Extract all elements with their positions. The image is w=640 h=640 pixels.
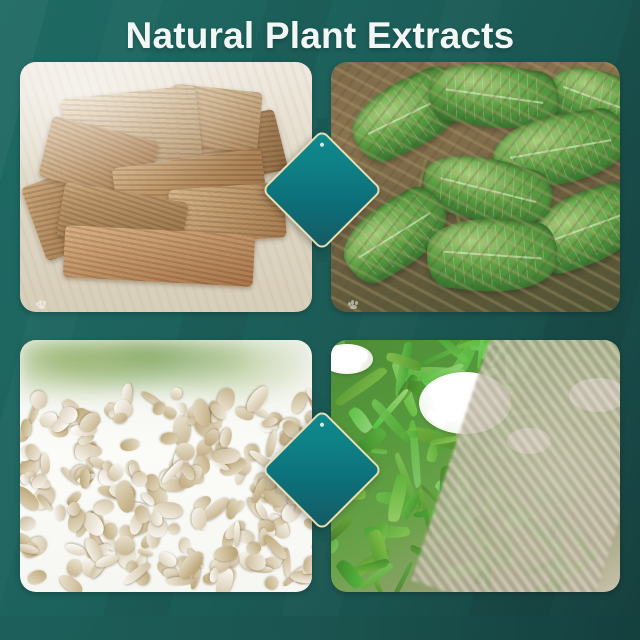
leaf-frond [459,417,495,434]
leaf-frond [514,558,543,578]
leaf-frond [533,577,573,592]
root-slice [55,506,65,521]
root-slice [119,439,139,452]
leaf-frond [456,464,469,498]
leaf-frond [484,543,492,592]
leaf-shape [423,211,560,298]
diamond-connector [316,118,328,132]
leaf-frond [564,387,579,393]
leaf-shape [340,62,477,169]
leaf-frond [501,505,533,533]
bark-piece [112,148,269,226]
leaf-frond [529,459,579,502]
leaf-frond [445,559,487,580]
poster-canvas: Natural Plant Extracts [0,0,640,640]
leaf-frond [331,514,356,542]
leaf-frond [517,419,536,433]
root-slice [112,412,127,424]
leaf-frond [545,480,575,543]
leaf-frond [541,531,568,561]
leaf-frond [463,506,476,521]
root-slice [20,518,35,531]
leaf-frond [438,465,453,532]
leaf-frond [480,490,503,517]
bark-piece [167,83,263,152]
root-slice [263,574,281,592]
root-slice [218,427,233,449]
leaf-frond [512,366,541,384]
umbel-flower [569,378,620,412]
leaf-frond [563,550,600,578]
leaf-frond [537,340,549,367]
leaf-frond [572,532,600,565]
umbel-flower [419,372,511,434]
bark-piece [38,116,160,203]
leaf-frond [499,531,511,559]
leaf-frond [493,381,515,399]
leaf-frond [491,550,516,572]
root-slice [168,386,183,402]
leaf-frond [531,340,551,369]
leaf-frond [430,508,474,543]
bark-piece [56,182,189,258]
root-slice [167,522,181,536]
leaf-frond [487,417,532,455]
leaf-shape [523,177,620,279]
leaf-frond [513,340,540,376]
root-slice [79,469,90,489]
leaf-frond [472,564,491,586]
leaf-frond [525,374,542,385]
diamond-dot-icon [319,422,325,428]
leaf-frond [543,369,576,391]
page-title: Natural Plant Extracts [0,14,640,58]
leaf-frond [530,428,561,469]
leaf-frond [532,470,554,503]
bark-piece [61,85,203,171]
leaf-frond [447,462,471,486]
leaf-frond [560,559,588,574]
leaf-frond [426,545,439,579]
root-slice [103,523,118,539]
plant-stem [406,159,428,235]
leaf-frond [476,547,493,572]
root-slice [40,453,50,474]
root-slice [233,521,240,547]
leaf-frond [347,404,373,435]
leaf-frond [433,478,458,503]
leaf-frond [503,496,557,551]
leaf-frond [505,354,514,383]
root-slice [65,542,88,557]
leaf-frond [568,388,590,421]
leaf-frond [486,483,495,504]
leaf-frond [523,560,551,577]
leaf-frond [447,492,470,507]
root-slice [21,418,31,436]
leaf-shape [417,141,560,238]
leaf-frond [540,340,588,375]
leaf-frond [540,559,562,575]
leaf-frond [551,514,598,564]
leaf-frond [571,417,597,450]
leaf-frond [452,503,491,553]
leaf-frond [524,362,550,407]
leaf-frond [464,430,474,455]
diamond-dot-icon [319,142,325,148]
leaf-frond [561,349,620,368]
bark-piece [63,225,255,287]
diamond-connector [316,398,328,412]
leaf-frond [475,472,525,513]
root-slice [311,537,312,550]
umbel-flower [331,344,373,374]
leaf-shape [489,105,620,193]
leaf-frond [559,480,602,496]
diamond-connector [316,248,328,262]
leaf-frond [565,340,580,359]
leaf-frond [520,404,534,422]
leaf-frond [540,434,563,472]
umbel-flower [507,428,551,454]
leaf-frond [471,513,502,553]
leaf-frond [494,502,538,522]
leaf-frond [538,395,559,405]
leaf-frond [474,381,495,397]
diamond-connector [316,528,328,542]
leaf-frond [504,435,556,456]
leaf-frond [485,442,531,465]
root-slice [177,403,187,416]
leaf-frond [528,389,562,413]
leaf-frond [427,506,484,527]
leaf-frond [532,488,563,508]
leaf-frond [511,543,548,558]
leaf-frond [516,417,529,465]
leaf-frond [562,344,620,361]
leaf-frond [473,409,541,420]
leaf-frond [408,543,443,569]
leaf-frond [488,340,520,367]
leaf-shape [424,62,563,139]
leaf-frond [547,537,569,592]
leaf-frond [506,371,528,408]
leaf-frond [555,382,573,421]
leaf-frond [542,489,555,534]
leaf-frond [559,514,596,550]
root-slice [27,568,48,586]
leaf-frond [476,375,504,395]
plant-stem [442,167,463,231]
leaf-shape [542,62,620,144]
leaf-frond [530,563,541,581]
leaf-frond [454,444,467,497]
leaf-frond [564,479,597,512]
leaf-frond [545,388,581,404]
bark-piece [21,164,113,261]
